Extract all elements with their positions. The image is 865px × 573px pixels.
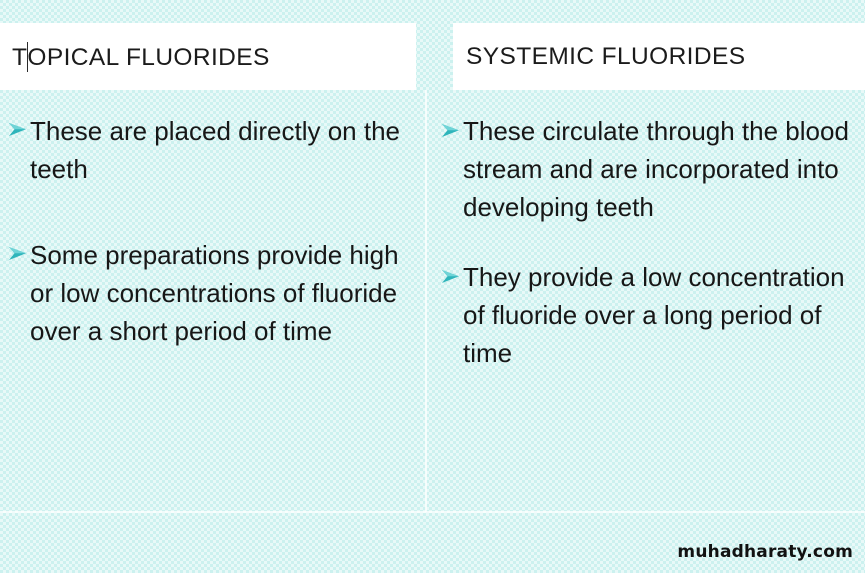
slide-canvas: TOPICAL FLUORIDES SYSTEMIC FLUORIDES The…	[0, 0, 865, 573]
arrowhead-bullet-icon	[441, 258, 463, 285]
watermark: muhadharaty.com	[677, 542, 853, 562]
column-systemic: These circulate through the blood stream…	[427, 90, 865, 512]
list-item: Some preparations provide high or low co…	[8, 236, 408, 350]
list-item-text: These are placed directly on the teeth	[30, 112, 408, 188]
page-title-topical: TOPICAL FLUORIDES	[12, 42, 270, 72]
arrowhead-bullet-icon	[441, 112, 463, 139]
arrowhead-bullet-icon	[8, 236, 30, 262]
title-prefix-topical: T	[12, 44, 27, 71]
list-item: These circulate through the blood stream…	[441, 112, 853, 226]
list-item-text: Some preparations provide high or low co…	[30, 236, 408, 350]
arrowhead-bullet-icon	[8, 112, 30, 138]
list-item-text: These circulate through the blood stream…	[463, 112, 853, 226]
title-plate-topical[interactable]: TOPICAL FLUORIDES	[0, 23, 416, 90]
bullet-list-systemic: These circulate through the blood stream…	[441, 112, 853, 372]
content-columns: These are placed directly on the teeth S…	[0, 90, 865, 512]
title-plate-systemic[interactable]: SYSTEMIC FLUORIDES	[453, 23, 865, 90]
list-item: They provide a low concentration of fluo…	[441, 258, 853, 372]
column-topical: These are placed directly on the teeth S…	[0, 90, 426, 512]
list-item-text: They provide a low concentration of fluo…	[463, 258, 853, 372]
page-title-systemic: SYSTEMIC FLUORIDES	[466, 43, 745, 71]
bullet-list-topical: These are placed directly on the teeth S…	[8, 112, 408, 350]
list-item: These are placed directly on the teeth	[8, 112, 408, 188]
title-suffix-topical: OPICAL FLUORIDES	[27, 44, 269, 71]
header-band: TOPICAL FLUORIDES SYSTEMIC FLUORIDES	[0, 23, 865, 90]
